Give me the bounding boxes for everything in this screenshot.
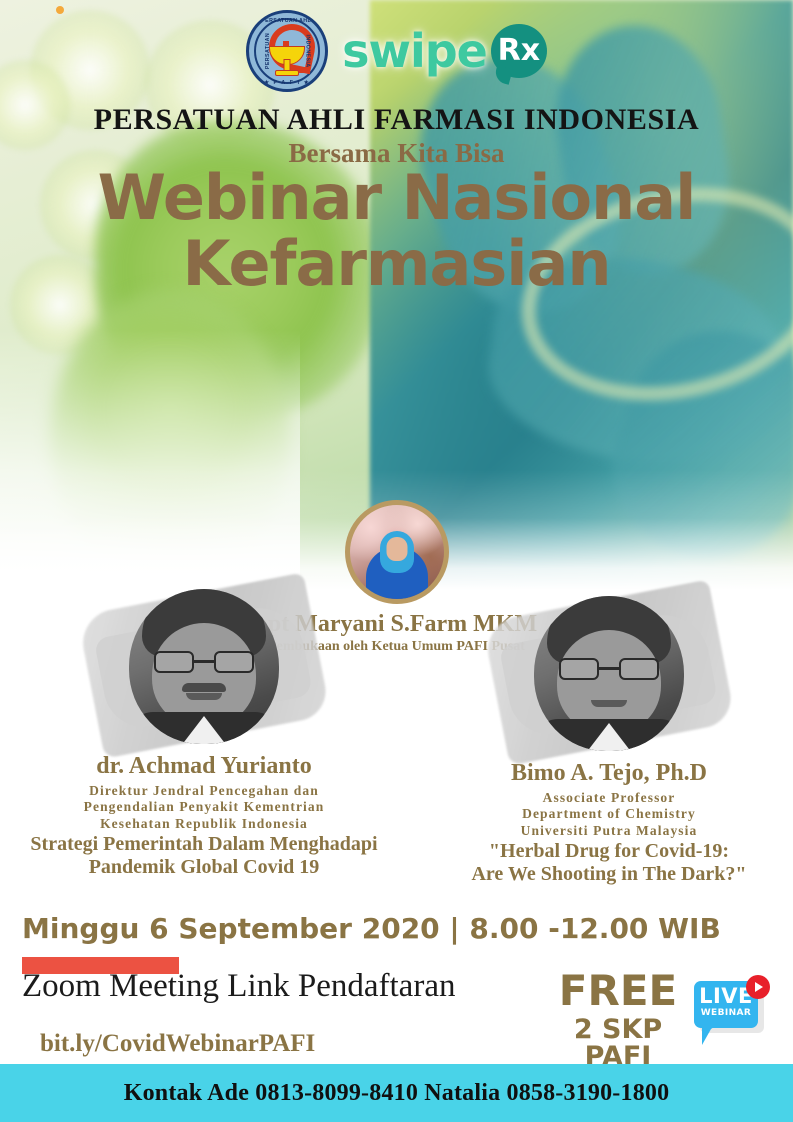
swipe-i-dot-icon	[56, 6, 64, 14]
organization-name: PERSATUAN AHLI FARMASI INDONESIA	[0, 103, 793, 137]
speaker-name: Bimo A. Tejo, Ph.D	[429, 760, 789, 787]
mouth-shape	[591, 700, 627, 707]
speaker-topic: Strategi Pemerintah Dalam Menghadapi Pan…	[4, 833, 404, 878]
speaker-face-shape	[386, 537, 407, 561]
swipe-rx-logo: swipe Rx	[342, 24, 547, 78]
pafi-ring-text-top: PERSATUAN AHLI	[261, 18, 313, 24]
play-button-icon	[746, 975, 770, 999]
title-line-1: Webinar Nasional	[98, 161, 696, 234]
affiliation-line: Department of Chemistry	[429, 806, 789, 822]
live-webinar-badge: LIVE WEBINAR	[694, 975, 770, 1045]
webinar-label: WEBINAR	[694, 1009, 758, 1018]
speaker-block-right: Bimo A. Tejo, Ph.D Associate Professor D…	[429, 592, 789, 885]
lens-left	[154, 651, 194, 673]
affiliation-line: Direktur Jendral Pencegahan dan	[4, 783, 404, 799]
glasses-bridge	[194, 660, 214, 663]
title-line-2: Kefarmasian	[0, 231, 793, 297]
rx-badge-label: Rx	[498, 36, 540, 66]
affiliation-line: Associate Professor	[429, 790, 789, 806]
glasses-bridge	[599, 667, 619, 670]
pafi-logo-icon: PERSATUAN AHLI PERSATUAN INDONESIA ★ P A…	[246, 10, 328, 92]
speaker-affiliation: Direktur Jendral Pencegahan dan Pengenda…	[4, 783, 404, 832]
topic-line: Pandemik Global Covid 19	[4, 856, 404, 878]
schedule-line: Minggu 6 September 2020 | 8.00 -12.00 WI…	[22, 912, 721, 945]
speaker-photo-left	[89, 585, 319, 750]
lens-right	[619, 658, 659, 680]
swipe-wordmark: swipe	[342, 28, 487, 74]
speaker-affiliation: Associate Professor Department of Chemis…	[429, 790, 789, 839]
pafi-ring-text-left: PERSATUAN	[265, 33, 271, 69]
affiliation-line: Universiti Putra Malaysia	[429, 823, 789, 839]
mustache-shape	[182, 683, 226, 692]
affiliation-line: Kesehatan Republik Indonesia	[4, 816, 404, 832]
speaker-block-left: dr. Achmad Yurianto Direktur Jendral Pen…	[4, 585, 404, 878]
price-block: FREE 2 SKP PAFI	[548, 970, 688, 1070]
mouth-shape	[186, 693, 222, 700]
lens-left	[559, 658, 599, 680]
pafi-ring-text-bottom: ★ P A F I ★	[264, 80, 310, 86]
speaker-photo-right	[494, 592, 724, 757]
speaker-portrait	[534, 596, 684, 751]
contact-footer: Kontak Ade 0813-8099-8410 Natalia 0858-3…	[0, 1064, 793, 1122]
pafi-ring-text-right: INDONESIA	[305, 34, 311, 67]
pafi-logo-text: PERSATUAN AHLI PERSATUAN INDONESIA ★ P A…	[249, 13, 325, 89]
speaker-portrait	[129, 589, 279, 744]
registration-link[interactable]: bit.ly/CovidWebinarPAFI	[40, 1030, 315, 1058]
contact-text: Kontak Ade 0813-8099-8410 Natalia 0858-3…	[124, 1080, 670, 1107]
page-title: Webinar Nasional Kefarmasian	[0, 165, 793, 296]
free-label: FREE	[548, 970, 688, 1012]
topic-line: Strategi Pemerintah Dalam Menghadapi	[4, 833, 404, 855]
glasses-icon	[154, 651, 254, 673]
speaker-topic: "Herbal Drug for Covid-19: Are We Shooti…	[429, 840, 789, 885]
topic-line: "Herbal Drug for Covid-19:	[429, 840, 789, 862]
webinar-poster: PERSATUAN AHLI PERSATUAN INDONESIA ★ P A…	[0, 0, 793, 1122]
rx-speech-bubble-icon: Rx	[491, 24, 547, 78]
skp-label: 2 SKP PAFI	[548, 1016, 688, 1070]
affiliation-line: Pengendalian Penyakit Kementrian	[4, 799, 404, 815]
speaker-name: dr. Achmad Yurianto	[4, 753, 404, 780]
lens-right	[214, 651, 254, 673]
glasses-icon	[559, 658, 659, 680]
topic-line: Are We Shooting in The Dark?"	[429, 863, 789, 885]
logo-row: PERSATUAN AHLI PERSATUAN INDONESIA ★ P A…	[0, 8, 793, 94]
registration-label: Zoom Meeting Link Pendaftaran	[22, 968, 455, 1005]
